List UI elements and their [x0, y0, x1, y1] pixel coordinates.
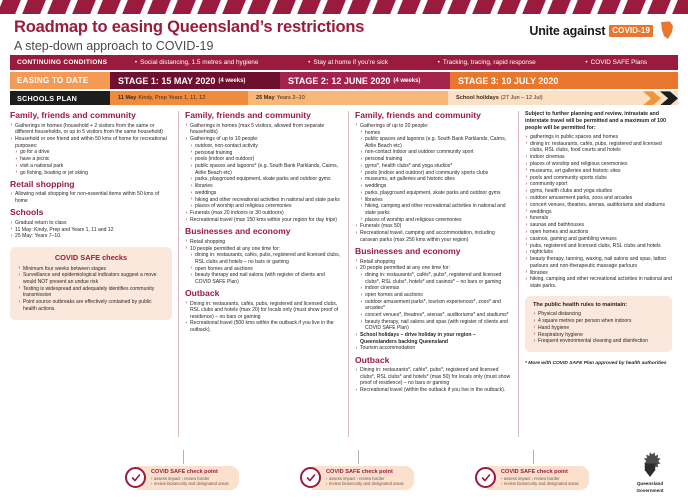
- sub-list-item: libraries: [190, 183, 342, 189]
- decorative-chevron-band: [0, 0, 688, 14]
- schools-milestone-3-date: School holidays: [456, 95, 499, 101]
- schools-milestone-3: School holidays (27 Jun – 12 Jul): [448, 91, 678, 105]
- sub-list-item: outdoor amusement parks*, tourism experi…: [360, 299, 512, 312]
- sub-list-item: libraries: [360, 197, 512, 203]
- info-box-item: Point source outbreaks are effectively c…: [18, 299, 164, 312]
- sub-list-item: beauty therapy, nail salons and spas (wi…: [360, 319, 512, 332]
- schools-plan-bar: SCHOOLS PLAN 11 May Kindy, Prep Years 1,…: [10, 91, 678, 105]
- sub-list-item: open homes and auctions: [190, 266, 342, 272]
- list-item: Recreational travel (within the outback …: [355, 387, 512, 394]
- covid-safe-check-point[interactable]: COVID SAFE check pointassess impact › re…: [475, 466, 589, 490]
- chevron-icon: [175, 0, 200, 14]
- unite-against-logo: Unite against COVID-19: [529, 21, 674, 40]
- list-item: Retail shopping: [185, 239, 342, 246]
- chevron-icon: [200, 0, 225, 14]
- list: Gatherings of up to 20 people:homespubli…: [355, 123, 512, 244]
- continuing-conditions-label: CONTINUING CONDITIONS: [10, 55, 110, 70]
- logo-line-2: Government: [624, 488, 676, 493]
- list: Allowing retail shopping for non-essenti…: [10, 191, 172, 204]
- sub-list-item: indoor cinemas: [360, 285, 512, 291]
- info-box: COVID SAFE checksMinimum four weeks betw…: [10, 247, 172, 320]
- chevron-icon: [300, 0, 325, 14]
- section-title: Schools: [10, 208, 172, 218]
- sub-list: go for a drivehave a picnicvisit a natio…: [15, 149, 172, 176]
- infographic-page: Roadmap to easing Queensland’s restricti…: [0, 0, 688, 498]
- schools-timeline: 11 May Kindy, Prep Years 1, 11, 12 25 Ma…: [110, 91, 678, 105]
- sub-list-item: weddings: [360, 183, 512, 189]
- checkpoint-title: COVID SAFE check point: [151, 469, 229, 476]
- sub-list-item: public spaces and lagoons* (e.g. South B…: [190, 163, 342, 176]
- chevron-icon: [75, 0, 100, 14]
- chevron-icon: [450, 0, 475, 14]
- sub-list: dining in: restaurants*, cafés*, pubs*, …: [360, 272, 512, 332]
- page-title: Roadmap to easing Queensland’s restricti…: [14, 18, 364, 37]
- list: Gatherings in homes (household + 2 visit…: [10, 123, 172, 176]
- sub-list-item: go for a drive: [15, 149, 172, 155]
- chevron-icon: [600, 0, 625, 14]
- list-item: Gatherings in homes (household + 2 visit…: [10, 123, 172, 136]
- list-item: Allowing retail shopping for non-essenti…: [10, 191, 172, 204]
- info-box-title: The public health rules to maintain:: [533, 302, 664, 308]
- covid-safe-check-point[interactable]: COVID SAFE check pointassess impact › re…: [300, 466, 414, 490]
- stage-3-name: STAGE 3: 10 JULY 2020: [458, 76, 558, 86]
- page-subtitle: A step-down approach to COVID-19: [14, 39, 364, 53]
- stage-3-list: gatherings in public spaces and homesdin…: [525, 134, 672, 290]
- chevron-icon: [25, 0, 50, 14]
- list: Gatherings in homes (max 5 visitors, all…: [185, 123, 342, 224]
- schools-milestone-3-text: (27 Jun – 12 Jul): [501, 95, 543, 101]
- list-item: 20 people permitted at any one time for:: [355, 265, 512, 272]
- section-title: Family, friends and community: [355, 111, 512, 121]
- sub-list-item: visit a national park: [15, 163, 172, 169]
- list-item: Recreational travel (max 150 kms within …: [185, 217, 342, 224]
- schools-milestone-2: 25 May Years 2–10: [248, 91, 448, 105]
- sub-list: homespublic spaces and lagoons (e.g. Sou…: [360, 130, 512, 224]
- list-item: Gatherings of up to 20 people:: [355, 123, 512, 130]
- list-item: 11 May: Kindy, Prep and Years 1, 11 and …: [10, 227, 172, 234]
- list: Retail shopping10 people permitted at an…: [185, 239, 342, 285]
- list: Gradual return to class11 May: Kindy, Pr…: [10, 220, 172, 240]
- chevron-icon: [0, 0, 25, 14]
- chevron-icon: [525, 0, 550, 14]
- info-box-list: Minimum four weeks between stagesSurveil…: [18, 266, 164, 313]
- list-item: Funerals (max 50): [355, 223, 512, 230]
- schools-milestone-2-text: Years 2–10: [277, 95, 305, 101]
- list-item: Tourism accommodation: [355, 345, 512, 352]
- chevron-icon: [425, 0, 450, 14]
- list-item: museums, art galleries and historic site…: [525, 168, 672, 175]
- covid19-badge: COVID-19: [609, 25, 653, 37]
- list-item: Household or one friend and within 50 km…: [10, 136, 172, 149]
- list-item: beauty therapy, tanning, waxing, nail sa…: [525, 256, 672, 269]
- sub-list: dining in: restaurants, cafés, pubs, reg…: [190, 252, 342, 285]
- stage-2-name: STAGE 2: 12 JUNE 2020: [288, 76, 390, 86]
- list-item: Retail shopping: [355, 259, 512, 266]
- sub-list-item: go fishing, boating or jet skiing: [15, 170, 172, 176]
- list-item: Dining in: restaurants, cafés, pubs, reg…: [185, 301, 342, 321]
- stage-3-header[interactable]: STAGE 3: 10 JULY 2020: [450, 72, 678, 89]
- list-item: open homes and auctions: [525, 229, 672, 236]
- continuing-condition-1: Social distancing, 1.5 metres and hygien…: [135, 59, 259, 66]
- info-box-item: Minimum four weeks between stages: [18, 266, 164, 273]
- chevron-icon: [675, 0, 688, 14]
- section-title: Retail shopping: [10, 180, 172, 190]
- unite-label: Unite against: [529, 24, 605, 38]
- list: Dining in: restaurants*, cafés*, pubs*, …: [355, 367, 512, 393]
- continuing-conditions-list: Social distancing, 1.5 metres and hygien…: [110, 55, 678, 70]
- header: Roadmap to easing Queensland’s restricti…: [0, 14, 688, 55]
- continuing-condition-2: Stay at home if you’re sick: [308, 59, 388, 66]
- sub-list-item: museums, art galleries and historic site…: [360, 176, 512, 182]
- list-item: funerals: [525, 215, 672, 222]
- list-item: saunas and bathhouses: [525, 222, 672, 229]
- section-title: Businesses and economy: [355, 247, 512, 257]
- sub-list-item: concert venues*, theatres*, arenas*, aud…: [360, 312, 512, 318]
- stage-2-header[interactable]: STAGE 2: 12 JUNE 2020 (4 weeks): [280, 72, 450, 89]
- list-item: Recreational travel (500 kms within the …: [185, 320, 342, 333]
- sub-list-item: have a picnic: [15, 156, 172, 162]
- list-item: gyms, health clubs and yoga studios: [525, 188, 672, 195]
- checkpoint-body: COVID SAFE check pointassess impact › re…: [487, 466, 589, 490]
- info-box-item: Surveillance and epidemiological indicat…: [18, 272, 164, 285]
- sub-list-item: gyms*, health clubs* and yoga studios*: [360, 163, 512, 169]
- list-item: weddings: [525, 209, 672, 216]
- list-item: nightclubs: [525, 249, 672, 256]
- stage-headers: STAGE 1: 15 MAY 2020 (4 weeks) STAGE 2: …: [110, 72, 678, 89]
- list-item: Gradual return to class: [10, 220, 172, 227]
- list-item: Funerals (max 20 indoors or 30 outdoors): [185, 210, 342, 217]
- chevron-icon: [225, 0, 250, 14]
- list-item: 25 May: Years 7–10.: [10, 233, 172, 240]
- info-box-item: Testing is widespread and adequately ide…: [18, 286, 164, 299]
- chevron-icon: [350, 0, 375, 14]
- sub-list: outdoor, non-contact activitypersonal tr…: [190, 143, 342, 210]
- stage-2-note: (4 weeks): [393, 78, 420, 84]
- sub-list-item: pools (indoor and outdoor): [190, 156, 342, 162]
- list-item: indoor cinemas: [525, 154, 672, 161]
- easing-to-date-label: EASING TO DATE: [10, 72, 110, 89]
- chevron-icon: [275, 0, 300, 14]
- list-item: casinos, gaming and gambling venues: [525, 236, 672, 243]
- sub-list-item: homes: [360, 130, 512, 136]
- info-box-item: Physical distancing: [533, 311, 664, 318]
- checkpoint-line-2: review biosecurity and designated areas: [326, 481, 404, 487]
- sub-list-item: parks, playground equipment, skate parks…: [190, 176, 342, 182]
- logo-line-1: Queensland: [624, 481, 676, 486]
- checkpoint-title: COVID SAFE check point: [501, 469, 579, 476]
- checkpoint-body: COVID SAFE check pointassess impact › re…: [312, 466, 414, 490]
- stage-1-name: STAGE 1: 15 MAY 2020: [118, 76, 215, 86]
- sub-list-item: personal training: [190, 150, 342, 156]
- schools-plan-label: SCHOOLS PLAN: [10, 91, 110, 105]
- stage-1-header[interactable]: STAGE 1: 15 MAY 2020 (4 weeks): [110, 72, 280, 89]
- chevron-icon: [325, 0, 350, 14]
- sub-list-item: weddings: [190, 190, 342, 196]
- timeline-arrow-orange-icon: [643, 91, 661, 105]
- column-stage-3: Subject to further planning and review, …: [518, 111, 678, 437]
- list-item: places of worship and religious ceremoni…: [525, 161, 672, 168]
- sub-list-item: public spaces and lagoons (e.g. South Ba…: [360, 136, 512, 149]
- stage-3-footnote: * More with COVID SAFE Plan approved by …: [525, 361, 672, 366]
- info-box-item: 4 square metres per person when indoors: [533, 318, 664, 325]
- list-item: Dining in: restaurants*, cafés*, pubs*, …: [355, 367, 512, 387]
- checkpoint-line-2: review biosecurity and designated areas: [501, 481, 579, 487]
- chevron-icon: [550, 0, 575, 14]
- list-item: community sport: [525, 181, 672, 188]
- checkpoint-body: COVID SAFE check pointassess impact › re…: [137, 466, 239, 490]
- section-title: Businesses and economy: [185, 227, 342, 237]
- chevron-icon: [500, 0, 525, 14]
- sub-list-item: places of worship and religious ceremoni…: [360, 217, 512, 223]
- section-title: Family, friends and community: [10, 111, 172, 121]
- sub-list-item: pools (indoor and outdoor) and community…: [360, 170, 512, 176]
- info-box-title: COVID SAFE checks: [18, 253, 164, 262]
- section-title: Family, friends and community: [185, 111, 342, 121]
- list-item: concert venues, theatres, arenas, audito…: [525, 202, 672, 209]
- column-stage-1: Family, friends and communityGatherings …: [178, 111, 348, 437]
- continuing-condition-3: Tracking, tracing, rapid response: [438, 59, 536, 66]
- list-item: dining in: restaurants, cafés, pubs, reg…: [525, 141, 672, 154]
- continuing-condition-4: COVID SAFE Plans: [585, 59, 647, 66]
- list-item: pools and community sports clubs: [525, 175, 672, 182]
- list-item: gatherings in public spaces and homes: [525, 134, 672, 141]
- list-item: outdoor amusement parks, zoos and arcade…: [525, 195, 672, 202]
- list-item: Gatherings of up to 10 people:: [185, 136, 342, 143]
- list-item: hiking, camping and other recreational a…: [525, 276, 672, 289]
- checkpoint-stem: [183, 450, 184, 464]
- schools-milestone-2-date: 25 May: [256, 95, 275, 101]
- checkpoint-title: COVID SAFE check point: [326, 469, 404, 476]
- coat-of-arms-icon: [635, 450, 665, 480]
- chevron-icon: [625, 0, 650, 14]
- info-box-list: Physical distancing4 square metres per p…: [533, 311, 664, 345]
- checkpoint-line-2: review biosecurity and designated areas: [151, 481, 229, 487]
- list: Dining in: restaurants, cafés, pubs, reg…: [185, 301, 342, 334]
- sub-list-item: beauty therapy and nail salons (with reg…: [190, 272, 342, 285]
- chevron-icon: [250, 0, 275, 14]
- schools-milestone-1-text: Kindy, Prep Years 1, 11, 12: [138, 95, 205, 101]
- stage-bars: CONTINUING CONDITIONS Social distancing,…: [0, 55, 688, 105]
- list: Retail shopping20 people permitted at an…: [355, 259, 512, 352]
- column-stage-2: Family, friends and communityGatherings …: [348, 111, 518, 437]
- section-title: Outback: [355, 356, 512, 366]
- chevron-icon: [475, 0, 500, 14]
- schools-milestone-1: 11 May Kindy, Prep Years 1, 11, 12: [110, 91, 248, 105]
- list-item: Recreational travel, camping and accommo…: [355, 230, 512, 243]
- sub-list-item: hiking and other recreational activities…: [190, 197, 342, 203]
- continuing-conditions-bar: CONTINUING CONDITIONS Social distancing,…: [10, 55, 678, 70]
- sub-list-item: parks, playground equipment, skate parks…: [360, 190, 512, 196]
- info-box-item: Hand hygiene: [533, 325, 664, 332]
- sub-list-item: personal training: [360, 156, 512, 162]
- stage-columns: Family, friends and communityGatherings …: [0, 107, 688, 437]
- queensland-government-logo: Queensland Government: [624, 450, 676, 493]
- sub-list-item: dining in: restaurants*, cafés*, pubs*, …: [360, 272, 512, 285]
- list-item: libraries: [525, 270, 672, 277]
- section-title: Outback: [185, 289, 342, 299]
- checkpoint-stem: [533, 450, 534, 464]
- chevron-icon: [50, 0, 75, 14]
- info-box: The public health rules to maintain:Phys…: [525, 296, 672, 352]
- sub-list-item: outdoor, non-contact activity: [190, 143, 342, 149]
- queensland-map-icon: [659, 21, 674, 40]
- list-item: 10 people permitted at any one time for:: [185, 246, 342, 253]
- easing-to-date-bar: EASING TO DATE STAGE 1: 15 MAY 2020 (4 w…: [10, 72, 678, 89]
- stage-3-intro: Subject to further planning and review, …: [525, 111, 672, 132]
- chevron-icon: [650, 0, 675, 14]
- chevron-icon: [575, 0, 600, 14]
- covid-safe-check-point[interactable]: COVID SAFE check pointassess impact › re…: [125, 466, 239, 490]
- stage-1-note: (4 weeks): [218, 78, 245, 84]
- sub-list-item: open homes and auctions: [360, 292, 512, 298]
- sub-list-item: dining in: restaurants, cafés, pubs, reg…: [190, 252, 342, 265]
- sub-list-item: places of worship and religious ceremoni…: [190, 203, 342, 209]
- list-item: School holidays – drive holiday in your …: [355, 332, 512, 345]
- chevron-icon: [375, 0, 400, 14]
- list-item: Gatherings in homes (max 5 visitors, all…: [185, 123, 342, 136]
- chevron-icon: [400, 0, 425, 14]
- info-box-item: Respiratory hygiene: [533, 332, 664, 339]
- sub-list-item: non-contact indoor and outdoor community…: [360, 149, 512, 155]
- header-text-group: Roadmap to easing Queensland’s restricti…: [14, 18, 364, 53]
- info-box-item: Frequent environmental cleaning and disi…: [533, 338, 664, 345]
- chevron-icon: [100, 0, 125, 14]
- chevron-icon: [125, 0, 150, 14]
- sub-list-item: hiking, camping and other recreational a…: [360, 203, 512, 216]
- chevron-icon: [150, 0, 175, 14]
- checkpoint-row: COVID SAFE check pointassess impact › re…: [0, 450, 688, 498]
- column-current-conditions: Family, friends and communityGatherings …: [10, 111, 178, 437]
- timeline-arrow-black-icon: [660, 91, 678, 105]
- schools-milestone-1-date: 11 May: [118, 95, 136, 101]
- checkpoint-stem: [358, 450, 359, 464]
- list-item: pubs, registered and licensed clubs, RSL…: [525, 243, 672, 250]
